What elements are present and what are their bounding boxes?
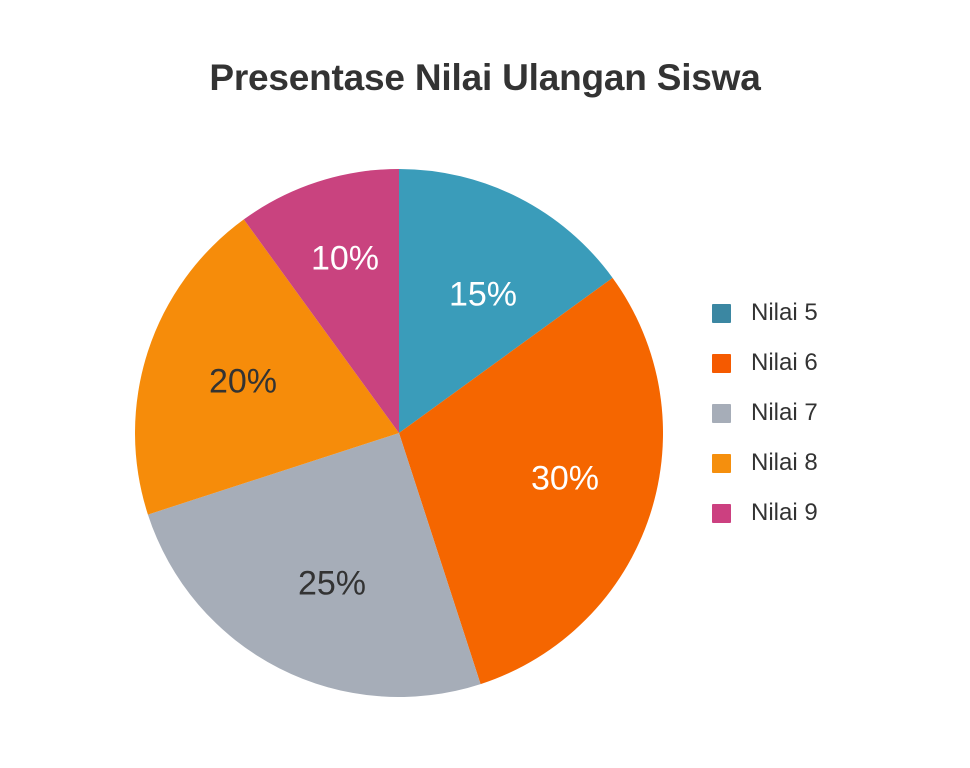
chart-canvas: Presentase Nilai Ulangan Siswa 15%30%25%… [0, 0, 970, 768]
legend-item[interactable]: Nilai 5 [712, 288, 892, 338]
slice-value-label: 10% [311, 240, 379, 279]
legend-item-label: Nilai 7 [751, 399, 818, 427]
pie-slices-group [135, 169, 663, 697]
legend-color-swatch [712, 304, 731, 323]
chart-title: Presentase Nilai Ulangan Siswa [0, 57, 970, 99]
legend-item-label: Nilai 5 [751, 299, 818, 327]
legend-color-swatch [712, 454, 731, 473]
chart-legend: Nilai 5Nilai 6Nilai 7Nilai 8Nilai 9 [712, 288, 892, 538]
legend-item[interactable]: Nilai 6 [712, 338, 892, 388]
legend-item[interactable]: Nilai 8 [712, 438, 892, 488]
pie-chart: 15%30%25%20%10% [135, 169, 663, 697]
legend-color-swatch [712, 404, 731, 423]
slice-value-label: 20% [209, 363, 277, 402]
slice-value-label: 25% [298, 565, 366, 604]
legend-item-label: Nilai 6 [751, 349, 818, 377]
legend-color-swatch [712, 504, 731, 523]
legend-item[interactable]: Nilai 7 [712, 388, 892, 438]
slice-value-label: 15% [449, 276, 517, 315]
legend-item-label: Nilai 9 [751, 499, 818, 527]
legend-color-swatch [712, 354, 731, 373]
slice-value-label: 30% [531, 460, 599, 499]
legend-item[interactable]: Nilai 9 [712, 488, 892, 538]
legend-item-label: Nilai 8 [751, 449, 818, 477]
